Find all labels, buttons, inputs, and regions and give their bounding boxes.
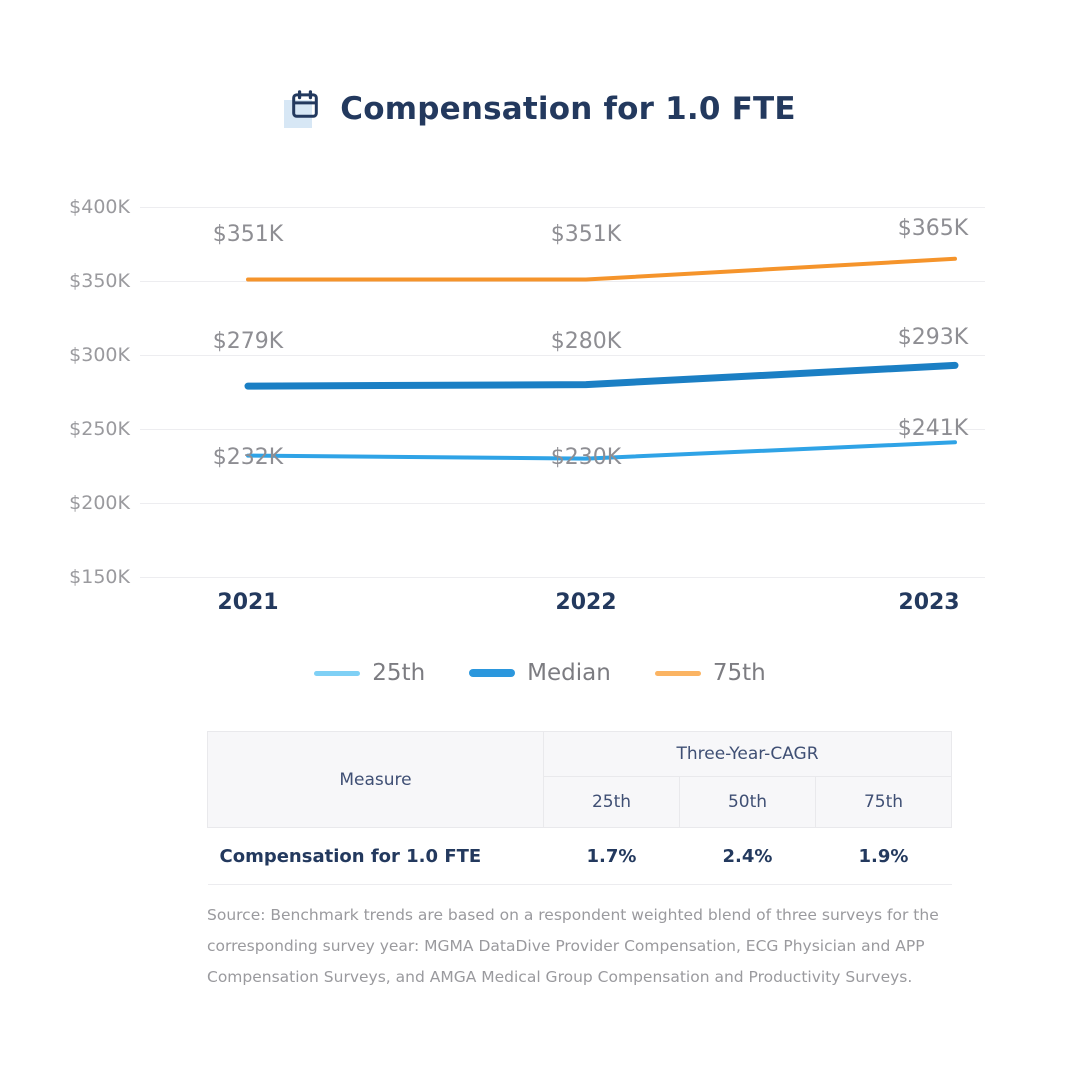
cell-cagr-75th: 1.9% — [816, 828, 952, 885]
legend-item-25th[interactable]: 25th — [314, 660, 425, 686]
source-note: Source: Benchmark trends are based on a … — [207, 900, 955, 993]
table-row: Compensation for 1.0 FTE 1.7% 2.4% 1.9% — [208, 828, 952, 885]
legend-label-25th: 25th — [372, 660, 425, 686]
legend-swatch-75th — [655, 671, 701, 676]
legend-swatch-25th — [314, 671, 360, 676]
x-tick-label-2021: 2021 — [217, 590, 278, 615]
cell-cagr-50th: 2.4% — [680, 828, 816, 885]
x-tick-label-2023: 2023 — [898, 590, 959, 615]
header-75th: 75th — [816, 777, 952, 828]
header-25th: 25th — [544, 777, 680, 828]
point-label-75th-2023: $365K — [898, 216, 968, 241]
header-measure: Measure — [208, 732, 544, 828]
table-body: Compensation for 1.0 FTE 1.7% 2.4% 1.9% — [208, 828, 952, 885]
series-lines — [0, 0, 1080, 640]
point-label-median-2022: $280K — [551, 329, 621, 354]
line-chart: $400K $350K $300K $250K $200K $150K $351… — [0, 0, 1080, 640]
cell-cagr-25th: 1.7% — [544, 828, 680, 885]
cagr-table: Measure Three-Year-CAGR 25th 50th 75th C… — [207, 731, 952, 885]
chart-page: Compensation for 1.0 FTE $400K $350K $30… — [0, 0, 1080, 1080]
table-head: Measure Three-Year-CAGR 25th 50th 75th — [208, 732, 952, 828]
point-label-25th-2022: $230K — [551, 445, 621, 470]
series-line-75th — [248, 259, 955, 280]
legend-item-75th[interactable]: 75th — [655, 660, 766, 686]
legend-label-median: Median — [527, 660, 611, 686]
table-header-row-1: Measure Three-Year-CAGR — [208, 732, 952, 777]
chart-legend: 25th Median 75th — [0, 660, 1080, 686]
header-50th: 50th — [680, 777, 816, 828]
point-label-median-2023: $293K — [898, 325, 968, 350]
series-line-median — [248, 365, 955, 386]
cell-measure: Compensation for 1.0 FTE — [208, 828, 544, 885]
legend-swatch-median — [469, 669, 515, 677]
x-tick-label-2022: 2022 — [555, 590, 616, 615]
legend-item-median[interactable]: Median — [469, 660, 611, 686]
point-label-median-2021: $279K — [213, 329, 283, 354]
legend-label-75th: 75th — [713, 660, 766, 686]
header-three-year-cagr: Three-Year-CAGR — [544, 732, 952, 777]
point-label-25th-2021: $232K — [213, 445, 283, 470]
point-label-75th-2022: $351K — [551, 222, 621, 247]
point-label-25th-2023: $241K — [898, 416, 968, 441]
point-label-75th-2021: $351K — [213, 222, 283, 247]
